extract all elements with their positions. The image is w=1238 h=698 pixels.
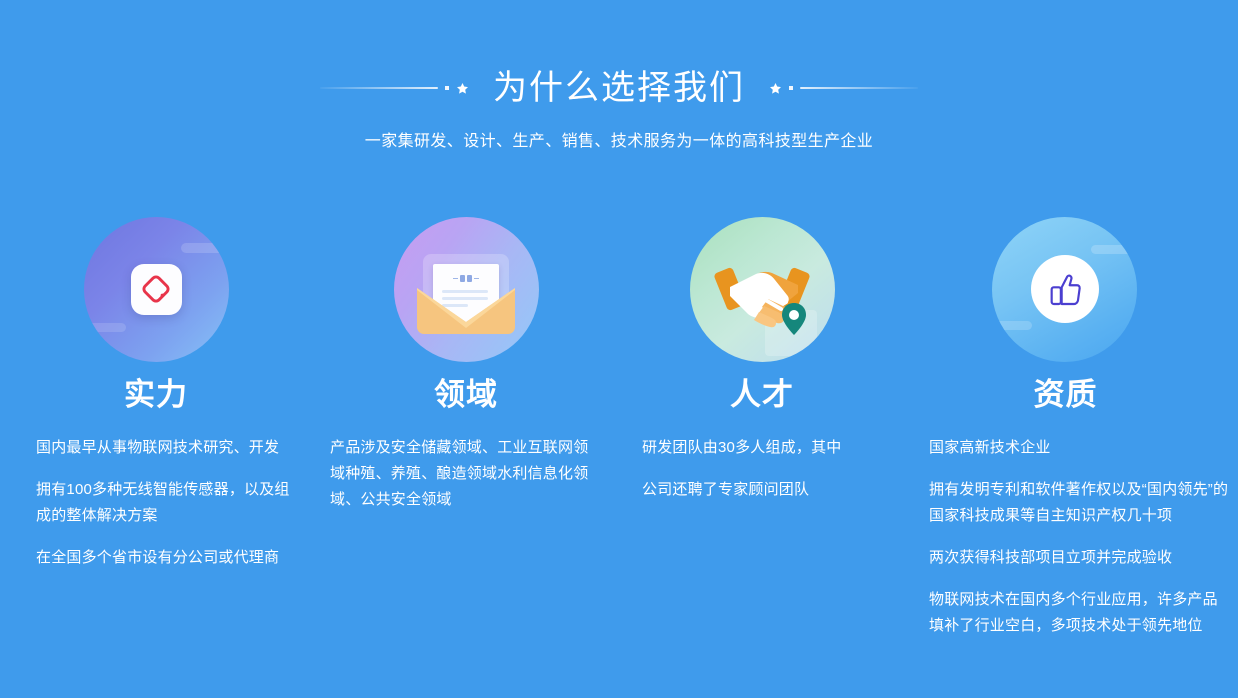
letter-header-mark: [442, 275, 490, 282]
title-decoration-left: [320, 68, 469, 108]
icon-container-field: [330, 205, 602, 373]
feature-columns: 实力 国内最早从事物联网技术研究、开发 拥有100多种无线智能传感器，以及组成的…: [0, 205, 1238, 639]
column-heading-field: 领域: [330, 373, 602, 417]
page-title: 为什么选择我们: [493, 66, 745, 110]
feature-column-qualification: 资质 国家高新技术企业 拥有发明专利和软件著作权以及“国内领先”的国家科技成果等…: [914, 205, 1238, 639]
bullet-item: 研发团队由30多人组成，其中: [642, 435, 904, 461]
icon-tile: [131, 264, 182, 315]
bullet-item: 物联网技术在国内多个行业应用，许多产品填补了行业空白，多项技术处于领先地位: [929, 587, 1230, 639]
envelope-front-flap: [417, 288, 515, 334]
section-subtitle: 一家集研发、设计、生产、销售、技术服务为一体的高科技型生产企业: [0, 131, 1238, 153]
feature-column-field: 领域 产品涉及安全储藏领域、工业互联网领域种殖、养殖、酿造领域水利信息化领域、公…: [312, 205, 612, 513]
why-choose-us-section: 为什么选择我们 一家集研发、设计、生产、销售、技术服务为一体的高科技型生产企业: [0, 0, 1238, 698]
bullet-item: 拥有100多种无线智能传感器，以及组成的整体解决方案: [36, 477, 298, 529]
bullet-item: 两次获得科技部项目立项并完成验收: [929, 545, 1230, 571]
decoration-dot-left: [445, 86, 449, 90]
icon-container-qualification: [929, 205, 1230, 373]
letter-glyph-1: [460, 275, 465, 282]
star-icon-left: [456, 82, 469, 95]
feature-column-talent: 人才 研发团队由30多人组成，其中 公司还聘了专家顾问团队: [612, 205, 914, 503]
column-body-talent: 研发团队由30多人组成，其中 公司还聘了专家顾问团队: [642, 435, 904, 503]
thumbs-up-icon: [992, 217, 1137, 362]
handshake-icon: [690, 217, 835, 362]
title-decoration-right: [769, 68, 918, 108]
column-body-strength: 国内最早从事物联网技术研究、开发 拥有100多种无线智能传感器，以及组成的整体解…: [36, 435, 298, 571]
column-body-qualification: 国家高新技术企业 拥有发明专利和软件著作权以及“国内领先”的国家科技成果等自主知…: [929, 435, 1230, 639]
bullet-item: 在全国多个省市设有分公司或代理商: [36, 545, 298, 571]
diamond-tile-icon: [84, 217, 229, 362]
bullet-item: 国内最早从事物联网技术研究、开发: [36, 435, 298, 461]
icon-container-talent: [642, 205, 904, 373]
letter-dash-left: [453, 278, 458, 280]
title-row: 为什么选择我们: [0, 66, 1238, 110]
column-body-field: 产品涉及安全储藏领域、工业互联网领域种殖、养殖、酿造领域水利信息化领域、公共安全…: [330, 435, 602, 513]
column-heading-qualification: 资质: [929, 373, 1230, 417]
icon-container-strength: [36, 205, 298, 373]
bullet-item: 拥有发明专利和软件著作权以及“国内领先”的国家科技成果等自主知识产权几十项: [929, 477, 1230, 529]
letter-glyph-2: [467, 275, 472, 282]
column-heading-strength: 实力: [36, 373, 298, 417]
bullet-item: 国家高新技术企业: [929, 435, 1230, 461]
decoration-dot-right: [789, 86, 793, 90]
decoration-line-right: [800, 87, 918, 89]
letter-dash-right: [474, 278, 479, 280]
envelope-letter-icon: [394, 217, 539, 362]
decoration-line-left: [320, 87, 438, 89]
bullet-item: 产品涉及安全储藏领域、工业互联网领域种殖、养殖、酿造领域水利信息化领域、公共安全…: [330, 435, 602, 513]
star-icon-right: [769, 82, 782, 95]
bullet-item: 公司还聘了专家顾问团队: [642, 477, 904, 503]
column-heading-talent: 人才: [642, 373, 904, 417]
feature-column-strength: 实力 国内最早从事物联网技术研究、开发 拥有100多种无线智能传感器，以及组成的…: [0, 205, 312, 571]
envelope-graphic: [411, 234, 521, 344]
icon-disc: [1031, 255, 1099, 323]
